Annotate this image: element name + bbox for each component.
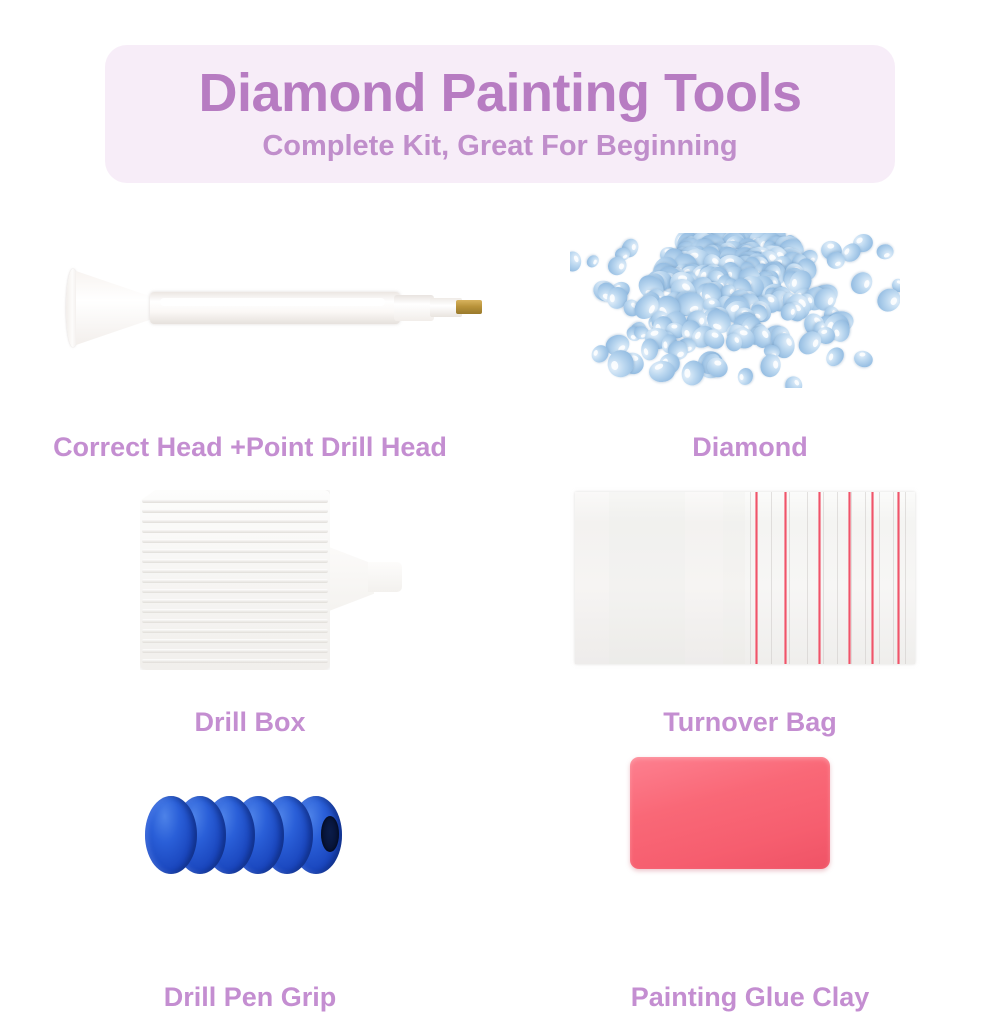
product-row: Drill Box Turnover Bag: [0, 470, 1000, 738]
drill-tray-body: [140, 490, 330, 670]
product-label: Drill Box: [0, 707, 500, 738]
foam-grip-segment: [145, 796, 197, 874]
drill-tray-rib: [142, 529, 328, 533]
drill-tray-rib: [142, 649, 328, 653]
drill-tray-rib: [142, 549, 328, 553]
drill-tray-rib: [142, 579, 328, 583]
product-cell-glue-clay[interactable]: Painting Glue Clay: [500, 745, 1000, 1013]
product-cell-drill-box[interactable]: Drill Box: [0, 470, 500, 738]
zip-bag-fold: [837, 492, 838, 664]
diamond-bead: [736, 366, 755, 386]
product-label: Painting Glue Clay: [500, 982, 1000, 1013]
product-grid: Correct Head +Point Drill Head Diamond D…: [0, 195, 1000, 1000]
page-title: Diamond Painting Tools: [199, 65, 802, 122]
drill-tray-rib: [142, 569, 328, 573]
zip-bag-fold: [905, 492, 906, 664]
drill-tray-rib: [142, 559, 328, 563]
diamond-bead: [570, 251, 581, 271]
zip-bag-fold: [823, 492, 824, 664]
zip-bag-panel: [723, 492, 745, 664]
pen-tip-gold: [456, 300, 482, 314]
product-row: Drill Pen Grip Painting Glue Clay: [0, 745, 1000, 1013]
zip-bag-fold: [879, 492, 880, 664]
drill-tray-rib: [142, 629, 328, 633]
diamond-bead: [648, 360, 675, 383]
diamond-bead: [785, 375, 804, 388]
pen-barrel-sheen: [160, 298, 385, 306]
product-cell-correct-head[interactable]: Correct Head +Point Drill Head: [0, 195, 500, 463]
foam-grip-graphic: [145, 790, 365, 880]
product-row: Correct Head +Point Drill Head Diamond: [0, 195, 1000, 463]
zip-bag-stripe: [897, 492, 900, 664]
foam-grip-icon: [0, 745, 500, 982]
product-label: Turnover Bag: [500, 707, 1000, 738]
diamond-bead: [852, 348, 875, 369]
zip-bag-stripe: [784, 492, 787, 664]
pen-head-flare: [76, 271, 154, 345]
drill-tray-icon: [0, 470, 500, 707]
zip-bag-stripe: [755, 492, 758, 664]
foam-grip-hole: [321, 816, 339, 852]
zip-bag-fold: [851, 492, 852, 664]
drill-tray-rib: [142, 589, 328, 593]
diamond-bead: [822, 344, 846, 369]
drill-pen-graphic: [60, 263, 480, 353]
diamond-bead: [846, 268, 876, 299]
drill-tray-rib: [142, 619, 328, 623]
drill-tray-rib: [142, 639, 328, 643]
zip-bag-stripe: [818, 492, 821, 664]
zip-bag-panel: [575, 492, 609, 664]
product-cell-drill-pen-grip[interactable]: Drill Pen Grip: [0, 745, 500, 1013]
diamond-bead: [724, 333, 742, 352]
glue-clay-icon: [500, 745, 1000, 982]
diamond-pile-graphic: [570, 233, 900, 388]
zip-bag-graphic: [575, 492, 915, 664]
pen-barrel: [150, 292, 400, 324]
glue-clay-graphic: [630, 757, 830, 869]
product-label: Diamond: [500, 432, 1000, 463]
drill-tray-rib: [142, 599, 328, 603]
drill-tray-rib: [142, 539, 328, 543]
drill-tray-handle: [368, 562, 402, 592]
product-label: Drill Pen Grip: [0, 982, 500, 1013]
drill-tray-rib: [142, 499, 328, 503]
diamond-bead: [584, 253, 601, 270]
zip-bag-fold: [865, 492, 866, 664]
header-banner: Diamond Painting Tools Complete Kit, Gre…: [105, 45, 895, 183]
zip-bag-fold: [771, 492, 772, 664]
drill-tray-rib: [142, 659, 328, 663]
drill-pen-icon: [0, 195, 500, 428]
product-cell-turnover-bag[interactable]: Turnover Bag: [500, 470, 1000, 738]
diamond-bead: [640, 338, 659, 361]
zip-bag-fold: [789, 492, 790, 664]
product-label: Correct Head +Point Drill Head: [0, 432, 500, 463]
zip-bag-stripe: [871, 492, 874, 664]
pen-collar: [394, 295, 434, 321]
diamond-beads-icon: [500, 195, 1000, 428]
drill-tray-graphic: [140, 490, 400, 670]
zip-bag-panel: [685, 492, 723, 664]
zip-bag-fold: [893, 492, 894, 664]
zip-bag-panel: [609, 492, 639, 664]
zip-bag-icon: [500, 470, 1000, 707]
zip-bag-panel: [639, 492, 685, 664]
zip-bag-fold: [750, 492, 751, 664]
zip-bag-stripe: [848, 492, 851, 664]
drill-tray-rib: [142, 519, 328, 523]
diamond-bead: [877, 243, 894, 259]
drill-tray-rib: [142, 509, 328, 513]
page-subtitle: Complete Kit, Great For Beginning: [262, 130, 737, 163]
zip-bag-fold: [807, 492, 808, 664]
product-cell-diamond[interactable]: Diamond: [500, 195, 1000, 463]
drill-tray-rib: [142, 609, 328, 613]
diamond-bead: [826, 251, 844, 268]
